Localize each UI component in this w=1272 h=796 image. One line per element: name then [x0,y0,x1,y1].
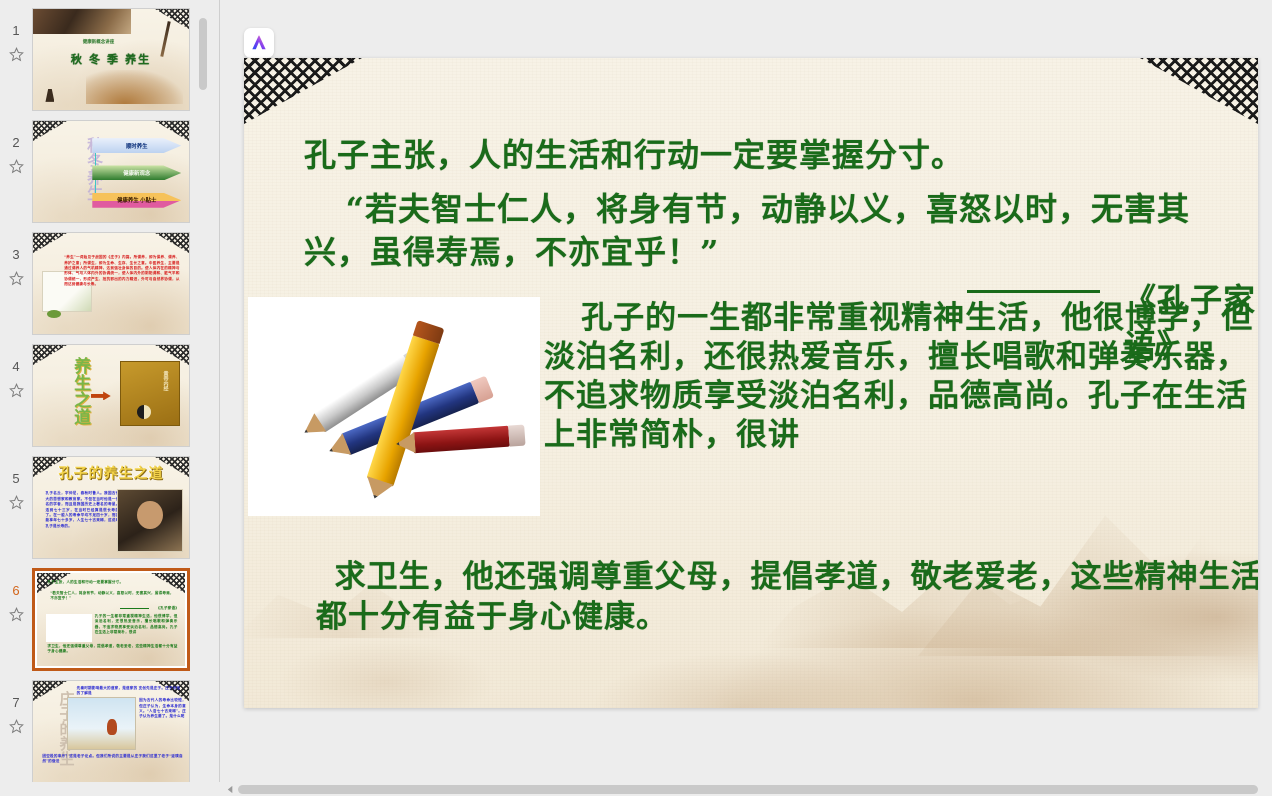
sidebar-slide-4[interactable]: 4 养生之道 滋阴 和中 养元 黄帝内经 [0,344,200,447]
star-icon[interactable] [9,383,24,398]
slide4-book-image: 黄帝内经 [120,361,179,426]
sidebar-slide-7[interactable]: 7 庄子的养生 先秦时期影响最大的道家，是道家的 支创先是庄子。庄子对他的了解是… [0,680,200,782]
star-icon[interactable] [9,159,24,174]
scroll-left-arrow-icon[interactable] [226,785,235,794]
pencils-image [46,614,92,642]
slide3-body: “养生”一词始见于战国的《庄子》内篇。所谓养，即为保养、调养、养护之意；所谓生，… [64,255,179,287]
slide6-source: 《孔子家语》 [120,606,179,611]
star-icon[interactable] [9,47,24,62]
slide-number: 5 [12,472,19,485]
slide-tail: 求卫生，他还强调尊重父母，提倡孝道，敬老爱老，这些精神生活都十分有益于身心健康。 [316,558,1258,637]
slide1-title: 秋 冬 季 养生 [49,51,174,67]
slide-number: 7 [12,696,19,709]
slide1-photo [33,9,131,34]
hill-decoration [86,70,183,104]
confucius-portrait [117,489,183,552]
arrow-right-icon [91,391,111,400]
slide6-quote: “若夫智士仁人，将身有节，动静以义，喜怒以时，无害其兴，虽得寿焉，不亦宜乎！” [50,591,174,602]
thumbnail[interactable]: 孔子的养生之道 孔子名丘，字仲尼，春秋时鲁人。我国古代伟大的思想家和教育家。不但… [32,456,190,559]
yin-yang-icon [137,405,151,419]
slide7-body-bottom: 因空极的享乐？这是老子论点。但我们所说的主要是从庄子我们这里了老子“返璞自然”的… [42,754,182,765]
source-rule [967,290,1100,293]
slide7-body-right: 因为古代人的寿命比较短，但庄子认为，生命本身的意义。“人活七十古来稀”。庄子认为… [139,698,186,720]
thumbnail[interactable]: 健康新概念讲座 秋 冬 季 养生 [32,8,190,111]
slide-canvas[interactable]: 孔子主张，人的生活和行动一定要掌握分寸。 “若夫智士仁人，将身有节，动静以义，喜… [244,58,1258,708]
corner-ornament-icon [244,58,362,124]
sidebar-slide-1[interactable]: 1 健康新概念讲座 秋 冬 季 养生 [0,8,200,111]
star-icon[interactable] [9,271,24,286]
thumbnail-selected[interactable]: 孔子主张，人的生活和行动一定要掌握分寸。 “若夫智士仁人，将身有节，动静以义，喜… [32,568,190,671]
rock-decoration [45,89,54,102]
horizontal-scrollbar-thumb[interactable] [238,785,1258,794]
slide2-vertical-title: 秋冬养生 [47,137,100,208]
star-icon[interactable] [9,719,24,734]
slide6-body: 孔子的一生都非常重视精神生活，他很博学，但淡泊名利，还很热爱音乐，擅长唱歌和弹奏… [95,614,178,636]
corner-ornament-icon [1140,58,1258,124]
corner-ornament-icon [155,9,189,29]
slide1-subtitle: 健康新概念讲座 [52,39,146,45]
star-icon[interactable] [9,607,24,622]
thumb-meta: 1 [0,8,32,62]
slide5-body: 孔子名丘，字仲尼，春秋时鲁人。我国古代伟大的思想家和教育家。不但在当时他是一位有… [45,491,123,529]
slide-heading: 孔子主张，人的生活和行动一定要掌握分寸。 [304,130,1224,176]
slide2-arrow-3: 健康养生 小贴士 [92,193,181,208]
slide-number: 2 [12,136,19,149]
slide-quote: “若夫智士仁人，将身有节，动静以义，喜怒以时，无害其兴，虽得寿焉，不亦宜乎！” [304,188,1244,274]
slide2-arrow-2: 健康新观念 [92,165,181,180]
app-logo-icon[interactable] [244,28,274,58]
thumb-meta: 5 [0,456,32,510]
slide7-body-top: 先秦时期影响最大的道家，是道家的 支创先是庄子。庄子对他的了解是 [77,686,183,697]
sidebar-slide-6[interactable]: 6 孔子主张，人的生活和行动一定要掌握分寸。 “若夫智士仁人，将身有节，动静以义… [0,568,200,671]
slide5-title: 孔子的养生之道 [45,463,176,483]
corner-ornament-icon [155,121,189,141]
sidebar-scrollbar-track[interactable] [198,0,208,782]
pencil-red [412,426,509,454]
star-icon[interactable] [9,495,24,510]
sidebar-slide-3[interactable]: 3 “养生”一词始见于战国的《庄子》内篇。所谓养，即为保养、调养、养护之意；所谓… [0,232,200,335]
app-logo-glyph [249,33,269,53]
slide6-heading: 孔子主张，人的生活和行动一定要掌握分寸。 [47,580,174,585]
thumbnail[interactable]: 养生之道 滋阴 和中 养元 黄帝内经 [32,344,190,447]
slide-body: 孔子的一生都非常重视精神生活，他很博学，但淡泊名利，还很热爱音乐，擅长唱歌和弹奏… [544,299,1258,455]
corner-ornament-icon [155,233,189,253]
sidebar-slide-5[interactable]: 5 孔子的养生之道 孔子名丘，字仲尼，春秋时鲁人。我国古代伟大的思想家和教育家。… [0,456,200,559]
thumbnail[interactable]: 秋冬养生 顺时养生 健康新观念 健康养生 小贴士 [32,120,190,223]
slide-number: 1 [12,24,19,37]
thumbnail[interactable]: “养生”一词始见于战国的《庄子》内篇。所谓养，即为保养、调养、养护之意；所谓生，… [32,232,190,335]
slide4-vertical-title: 养生之道 [45,357,89,436]
slide-number: 3 [12,248,19,261]
pencils-image[interactable] [248,297,540,516]
sidebar-scrollbar-thumb[interactable] [199,18,207,90]
thumb-meta: 2 [0,120,32,174]
presentation-viewer: 1 健康新概念讲座 秋 冬 季 养生 2 [0,0,1272,796]
thumb-meta: 6 [0,568,32,622]
leaf-decoration [47,310,61,318]
thumb-meta: 7 [0,680,32,734]
thumb-meta: 4 [0,344,32,398]
slide2-arrow-1: 顺时养生 [92,138,181,153]
corner-ornament-icon [33,233,67,253]
slide-number: 6 [12,584,19,597]
slide7-image [67,697,136,750]
slide-thumbnail-sidebar[interactable]: 1 健康新概念讲座 秋 冬 季 养生 2 [0,0,220,782]
slide6-tail: 求卫生，他还强调尊重父母，提倡孝道，敬老爱老，这些精神生活都十分有益于身心健康。 [47,644,177,655]
main-slide-area: 孔子主张，人的生活和行动一定要掌握分寸。 “若夫智士仁人，将身有节，动静以义，喜… [220,0,1272,782]
sidebar-slide-2[interactable]: 2 秋冬养生 顺时养生 健康新观念 健康养生 小贴士 [0,120,200,223]
slide-number: 4 [12,360,19,373]
slide4-book-label: 黄帝内经 [162,371,169,391]
thumb-meta: 3 [0,232,32,286]
thumbnail[interactable]: 庄子的养生 先秦时期影响最大的道家，是道家的 支创先是庄子。庄子对他的了解是 因… [32,680,190,782]
